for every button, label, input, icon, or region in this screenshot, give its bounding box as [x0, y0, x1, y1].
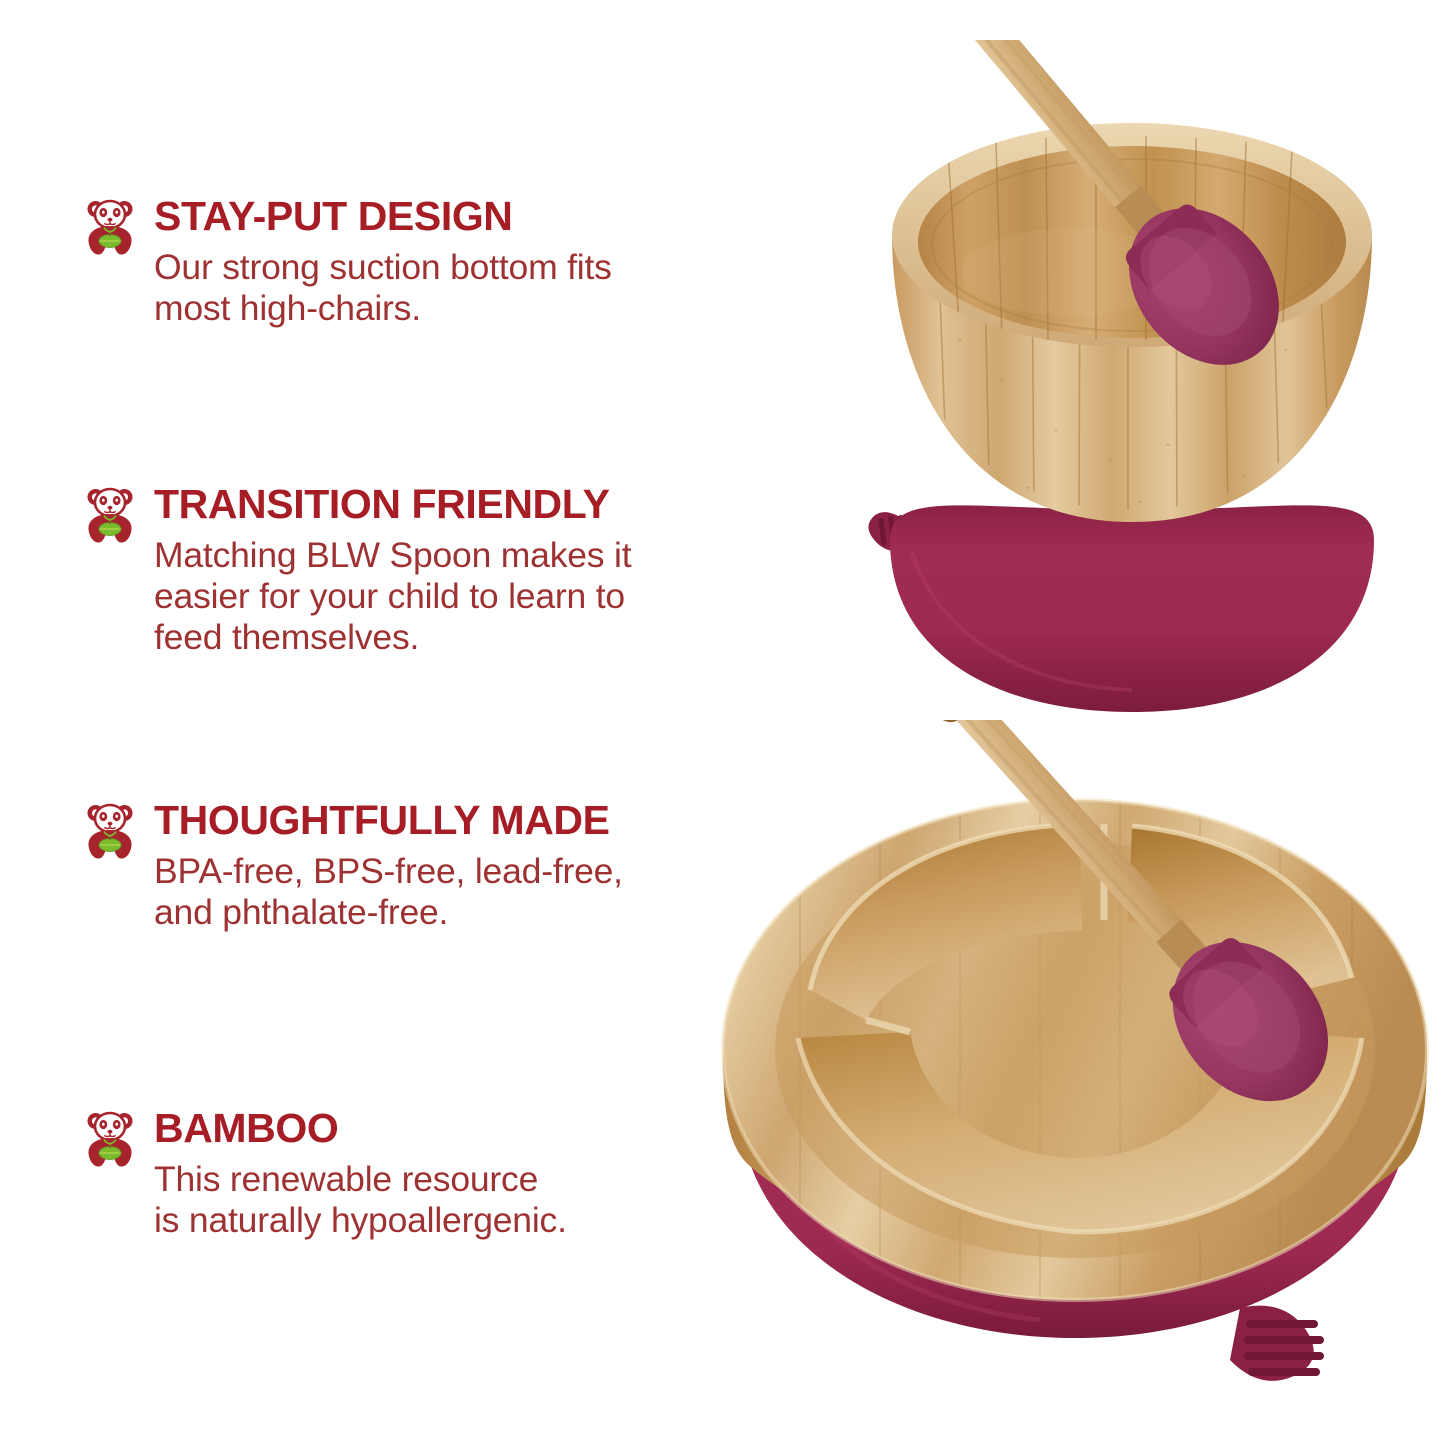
panda-bamboo-icon: [84, 198, 136, 256]
feature-text-block: TRANSITION FRIENDLY Matching BLW Spoon m…: [154, 484, 724, 658]
suction-release-tab-icon: [1244, 1320, 1324, 1376]
feature-description: This renewable resource is naturally hyp…: [154, 1159, 724, 1241]
panda-bamboo-icon: [84, 1110, 136, 1168]
plate-side-edge: [723, 1050, 1427, 1268]
feature-text-block: STAY-PUT DESIGN Our strong suction botto…: [154, 196, 724, 329]
product-bamboo-suction-divided-plate-with-spoon: [680, 720, 1445, 1445]
feature-item-stay-put-design: STAY-PUT DESIGN Our strong suction botto…: [84, 196, 724, 329]
spoon-brand-logo-icon: [932, 720, 972, 726]
feature-item-bamboo: BAMBOO This renewable resource is natura…: [84, 1108, 724, 1241]
plate-dividers: [866, 824, 1246, 1032]
bowl-silicone-suction-base: [868, 505, 1374, 712]
plate-compartment-3: [798, 1030, 1362, 1232]
feature-title: TRANSITION FRIENDLY: [154, 484, 724, 526]
bamboo-spoon-with-silicone-head: [936, 40, 1310, 395]
feature-title: THOUGHTFULLY MADE: [154, 800, 724, 842]
feature-text-block: THOUGHTFULLY MADE BPA-free, BPS-free, le…: [154, 800, 724, 933]
feature-item-thoughtfully-made: THOUGHTFULLY MADE BPA-free, BPS-free, le…: [84, 800, 724, 933]
panda-bamboo-icon: [84, 486, 136, 544]
feature-description: BPA-free, BPS-free, lead-free, and phtha…: [154, 851, 724, 933]
bowl-rim: [892, 123, 1372, 347]
feature-item-transition-friendly: TRANSITION FRIENDLY Matching BLW Spoon m…: [84, 484, 724, 658]
bowl-bamboo-body: [892, 235, 1372, 529]
plate-compartment-1: [810, 824, 1082, 1020]
feature-description: Our strong suction bottom fits most high…: [154, 247, 724, 329]
plate-top-surface: [723, 778, 1427, 1300]
feature-title: BAMBOO: [154, 1108, 724, 1150]
product-bamboo-suction-bowl-with-spoon: [820, 40, 1445, 720]
feature-list: STAY-PUT DESIGN Our strong suction botto…: [0, 0, 740, 1445]
bamboo-spoon-with-silicone-head: [909, 720, 1360, 1132]
feature-title: STAY-PUT DESIGN: [154, 196, 724, 238]
spoon-brand-logo-icon: [953, 40, 990, 43]
bowl-interior: [918, 136, 1346, 340]
panda-bamboo-icon: [84, 802, 136, 860]
feature-text-block: BAMBOO This renewable resource is natura…: [154, 1108, 724, 1241]
plate-silicone-suction-base: [740, 1087, 1410, 1381]
plate-compartment-2: [1128, 826, 1352, 1006]
feature-description: Matching BLW Spoon makes it easier for y…: [154, 535, 724, 659]
